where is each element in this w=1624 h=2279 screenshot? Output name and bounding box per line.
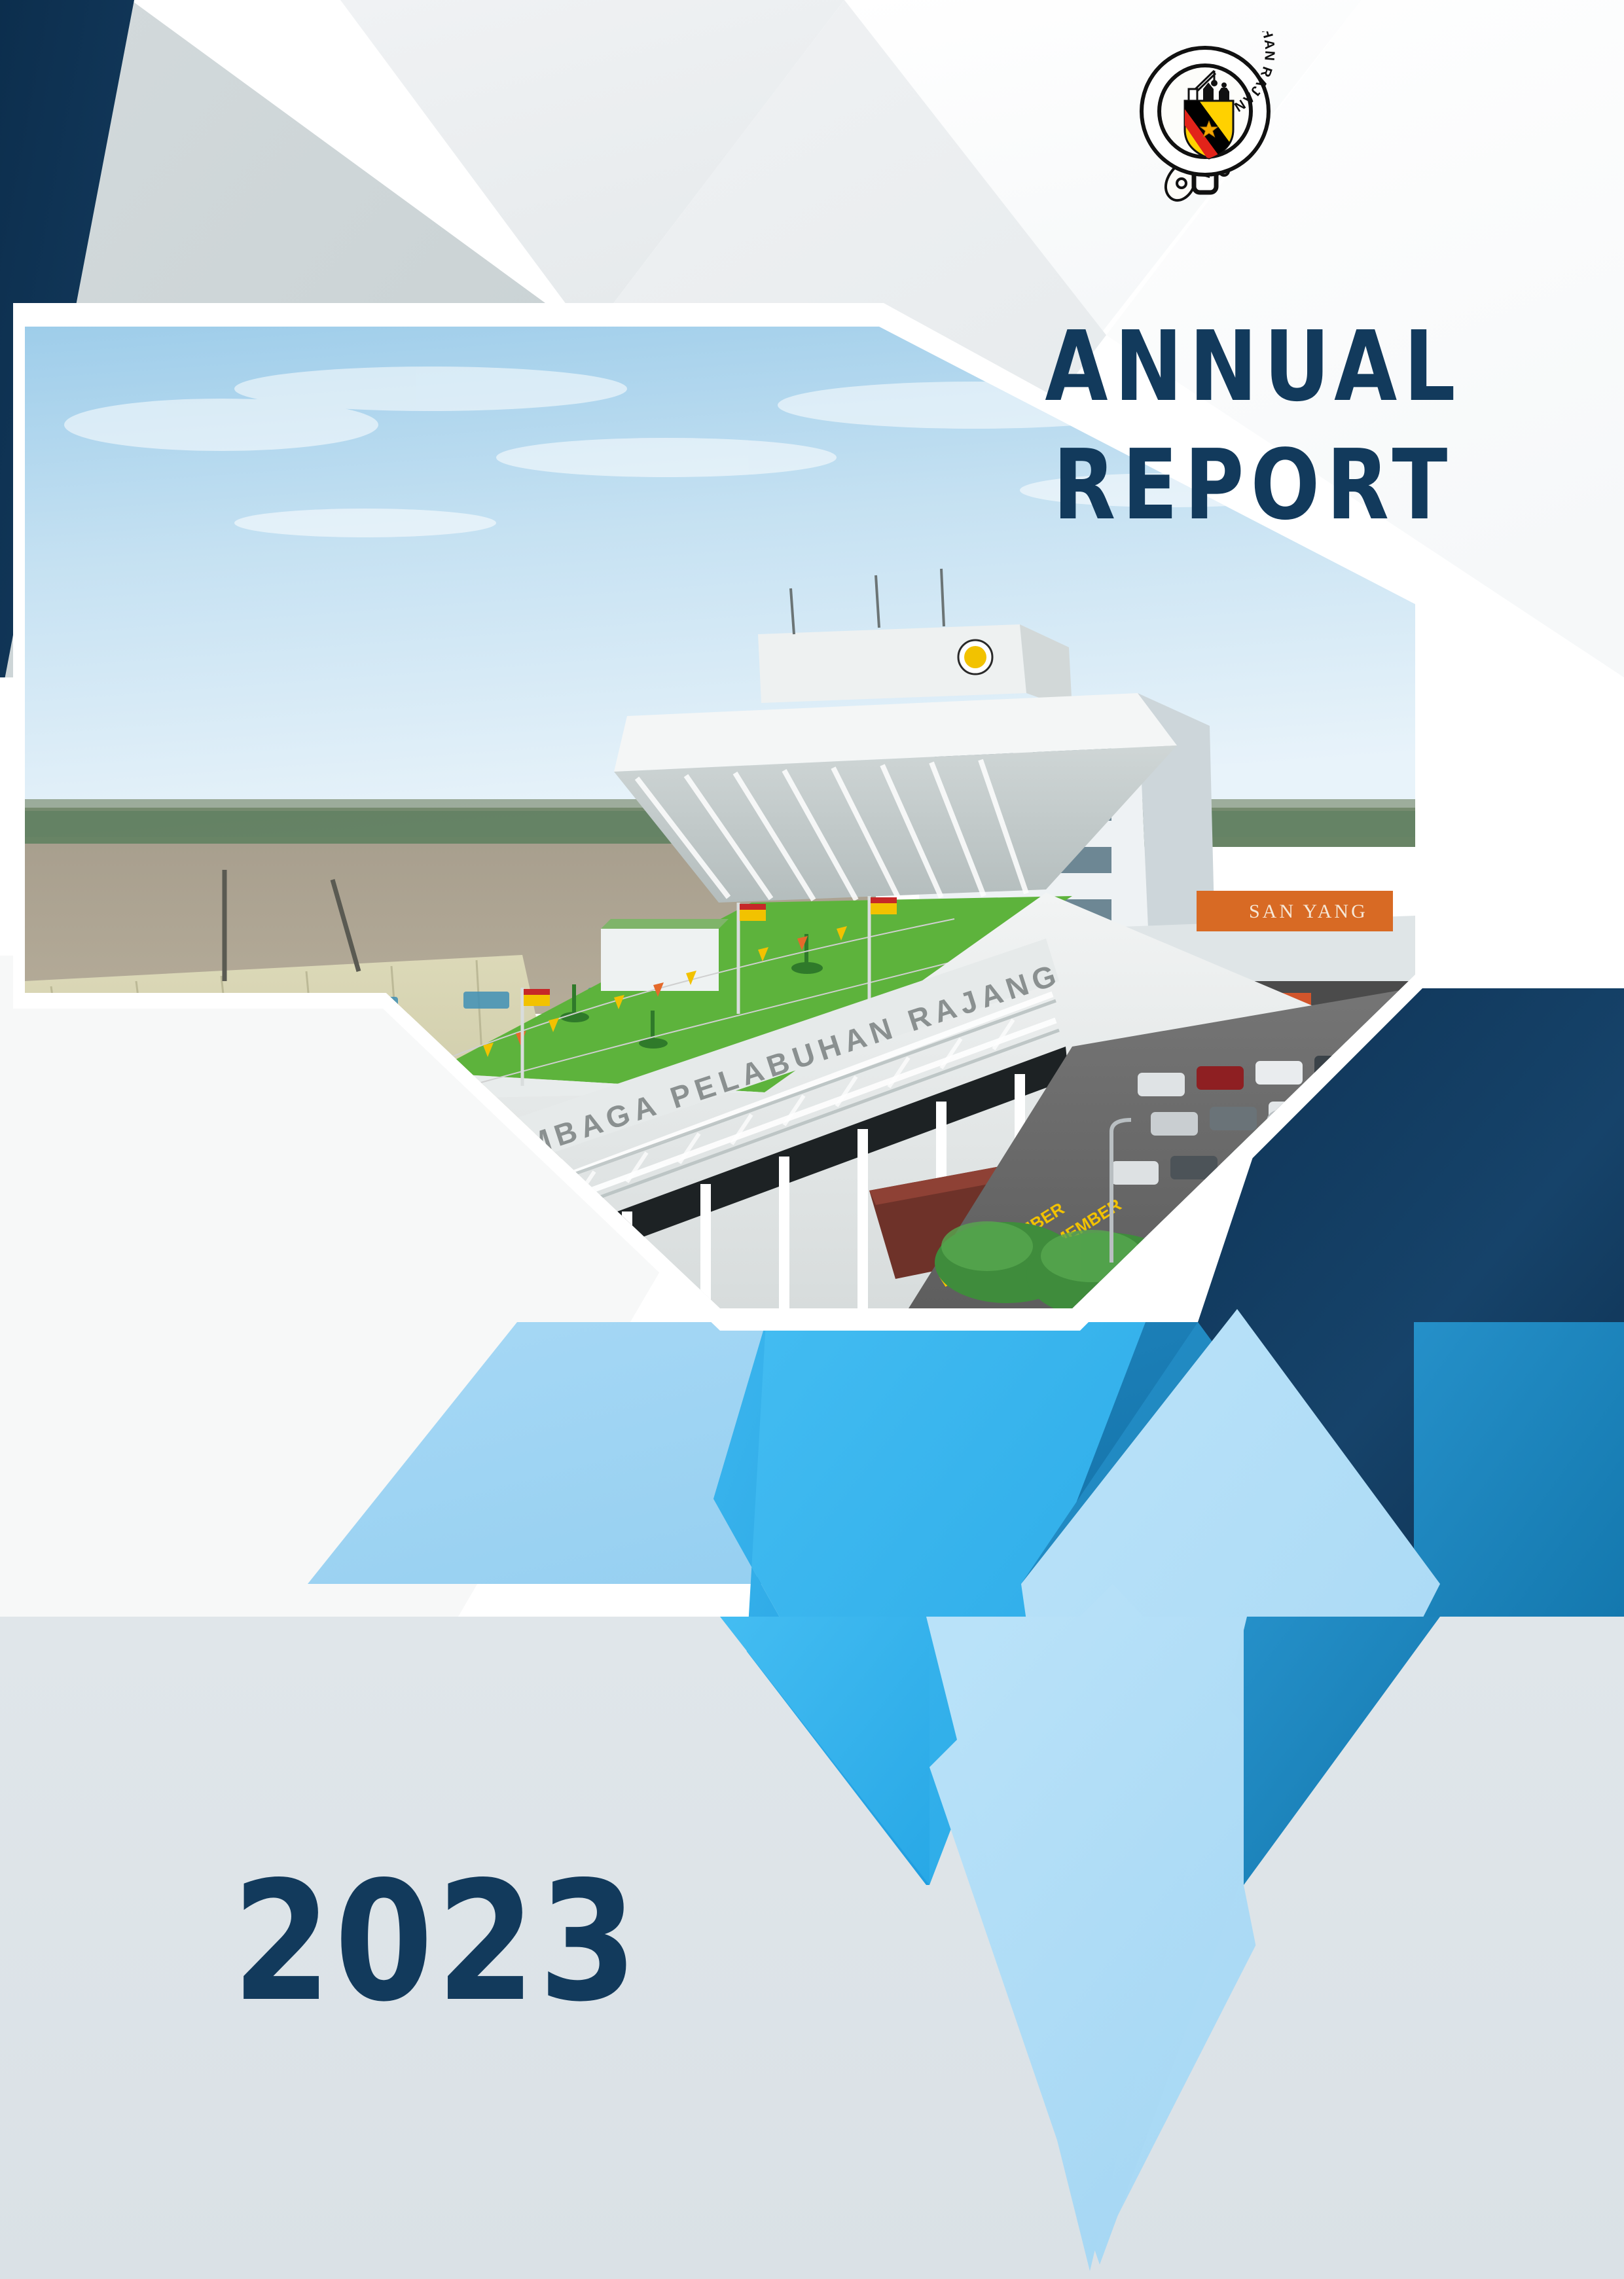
hq-facade-left-wing — [221, 1079, 457, 1308]
steel-blue-diamond-far-right — [1414, 1322, 1624, 1617]
band-overlay-right — [1440, 1617, 1624, 2279]
shed-roof — [64, 1197, 418, 1308]
annual-report-cover-page: SAN YANG — [0, 0, 1624, 2279]
lembaga-pelabuhan-rajang-logo: LEMBAGA PELABUHAN RAJANG — [1121, 31, 1290, 221]
cover-photo-container: SAN YANG — [13, 303, 1427, 1331]
warehouse-side — [25, 1132, 562, 1263]
aerial-photo-lembaga-pelabuhan-rajang-headquarters: SAN YANG — [25, 327, 1415, 1308]
cover-year: 2023 — [232, 1860, 641, 2025]
svg-text:SAN YANG: SAN YANG — [1249, 901, 1368, 922]
rooftop-hut — [601, 929, 719, 991]
